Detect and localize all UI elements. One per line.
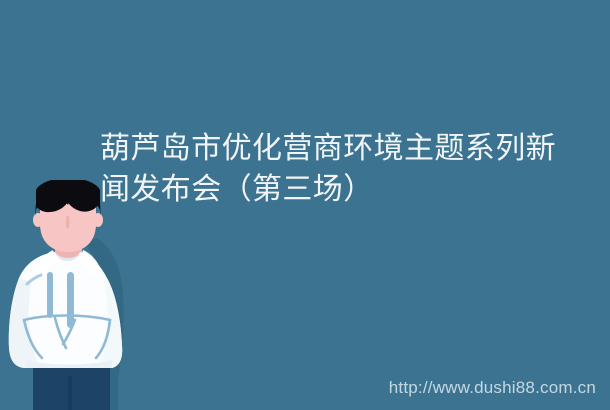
pants: [33, 362, 110, 410]
headline: 葫芦岛市优化营商环境主题系列新 闻发布会（第三场）: [100, 128, 600, 210]
news-thumbnail-card: 葫芦岛市优化营商环境主题系列新 闻发布会（第三场） http://www.dus…: [0, 0, 610, 410]
headline-line-1: 葫芦岛市优化营商环境主题系列新: [100, 128, 600, 169]
person-in-white-hoodie-illustration: [0, 180, 150, 410]
headline-line-2: 闻发布会（第三场）: [100, 169, 600, 210]
watermark-url: http://www.dushi88.com.cn: [389, 378, 596, 398]
